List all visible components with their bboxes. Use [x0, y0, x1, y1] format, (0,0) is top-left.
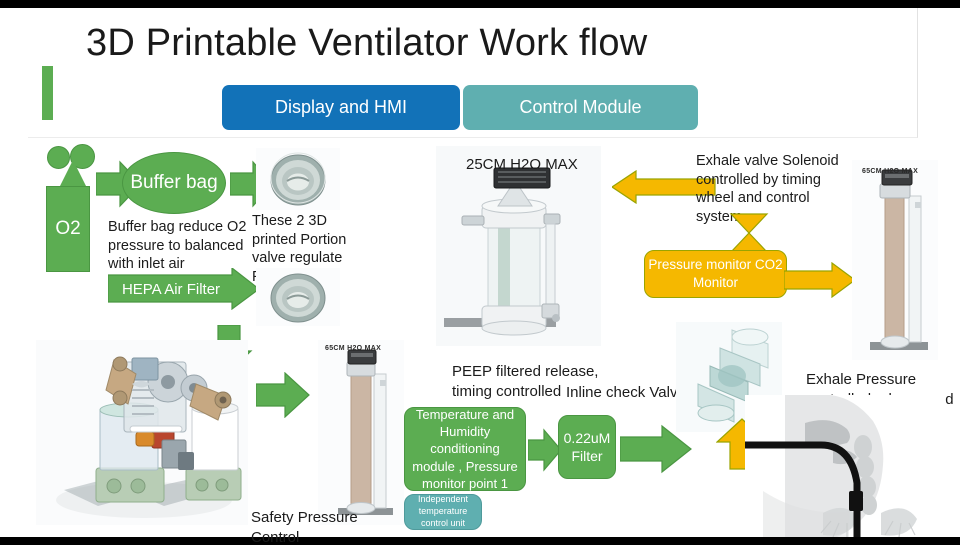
top-black-bar: [0, 0, 960, 8]
arrow-right-to-exhale-column-icon: [784, 262, 856, 298]
arrow-right-to-patient-icon: [620, 424, 692, 474]
arrow-right-to-filter-icon: [528, 428, 562, 472]
portion-valve-photo-bottom: [256, 268, 340, 326]
bowtie-valve-icon: [728, 212, 770, 254]
bottom-black-bar: [0, 537, 960, 545]
pill-display-and-hmi[interactable]: Display and HMI: [222, 85, 460, 130]
slide-canvas: 3D Printable Ventilator Work flow Displa…: [0, 0, 960, 545]
safety-pressure-control-note: Safety Pressure Control: [251, 508, 361, 545]
hepa-air-filter-label: HEPA Air Filter: [112, 278, 230, 300]
buffer-bag-note: Buffer bag reduce O2 pressure to balance…: [108, 218, 248, 274]
temp-humidity-module-node: Temperature and Humidity conditioning mo…: [404, 407, 526, 491]
buffer-bag-node: Buffer bag: [122, 152, 226, 214]
safety-column-max-label: 65CM H2O MAX: [325, 345, 381, 352]
peep-valve-photo: [436, 146, 601, 346]
exhale-valve-note: Exhale valve Solenoid controlled by timi…: [696, 152, 856, 226]
exhale-column-max-label: 65CM H2O MAX: [862, 168, 918, 175]
safety-pressure-column-photo: [318, 340, 404, 525]
page-title: 3D Printable Ventilator Work flow: [86, 22, 647, 65]
portion-valve-photo-top: [256, 148, 340, 210]
exhale-pressure-column-photo: [852, 160, 938, 360]
arrow-right-to-safety-column-icon: [256, 372, 310, 418]
patient-airway-diagram: [745, 395, 945, 537]
pressure-co2-monitor-node: Pressure monitor CO2 Monitor: [644, 250, 787, 298]
filter-022um-node: 0.22uM Filter: [558, 415, 616, 479]
pump-assembly-cad-render: [36, 340, 248, 525]
peep-max-label: 25CM H2O MAX: [466, 155, 578, 174]
o2-cylinder: O2: [46, 186, 90, 272]
independent-temp-control-node: Independent temperature control unit: [404, 494, 482, 530]
pill-control-module[interactable]: Control Module: [463, 85, 698, 130]
title-accent-bar: [42, 66, 53, 120]
